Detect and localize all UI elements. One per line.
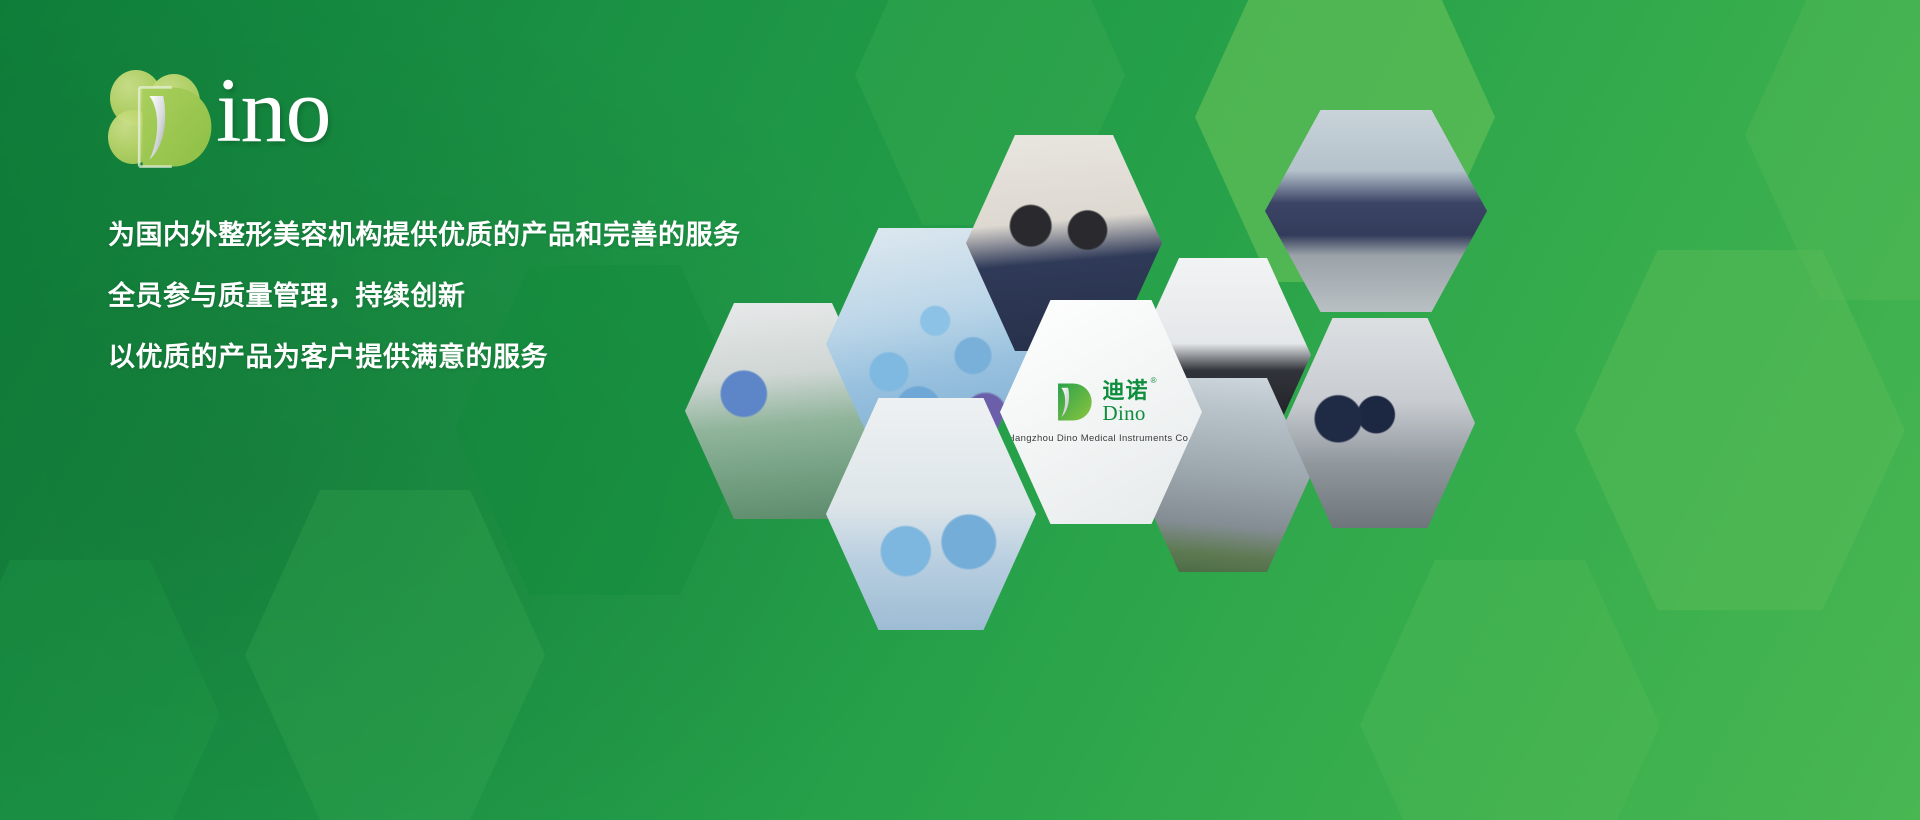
tagline-line-2: 全员参与质量管理，持续创新 (108, 283, 868, 310)
badge-logo-en: Dino (1102, 402, 1148, 424)
badge-company-name: Hangzhou Dino Medical Instruments Co.. (1008, 433, 1195, 444)
brand-wordmark: ino (216, 64, 331, 156)
leaf-logo-icon (108, 70, 226, 170)
hex-photo-cnc-shop[interactable] (1285, 318, 1475, 528)
badge-logo-cn-text: 迪诺 (1102, 378, 1148, 403)
letter-d-leaf-icon (134, 84, 220, 170)
cnc-shop-image (1285, 318, 1475, 528)
hero-banner: ino 为国内外整形美容机构提供优质的产品和完善的服务 全员参与质量管理，持续创… (0, 0, 1920, 820)
hex-photo-group-photo[interactable] (1265, 110, 1487, 312)
badge-logo-cn: 迪诺® (1102, 380, 1148, 402)
banner-copy: ino 为国内外整形美容机构提供优质的产品和完善的服务 全员参与质量管理，持续创… (108, 60, 868, 371)
badge-logo-lockup: 迪诺® Dino (1053, 380, 1148, 424)
tagline-line-1: 为国内外整形美容机构提供优质的产品和完善的服务 (108, 222, 868, 249)
brand-logo: ino (108, 60, 868, 170)
badge-leaf-d-icon (1053, 381, 1095, 423)
group-photo-image (1265, 110, 1487, 312)
tagline-line-3: 以优质的产品为客户提供满意的服务 (108, 344, 868, 371)
registered-mark: ® (1151, 377, 1158, 385)
